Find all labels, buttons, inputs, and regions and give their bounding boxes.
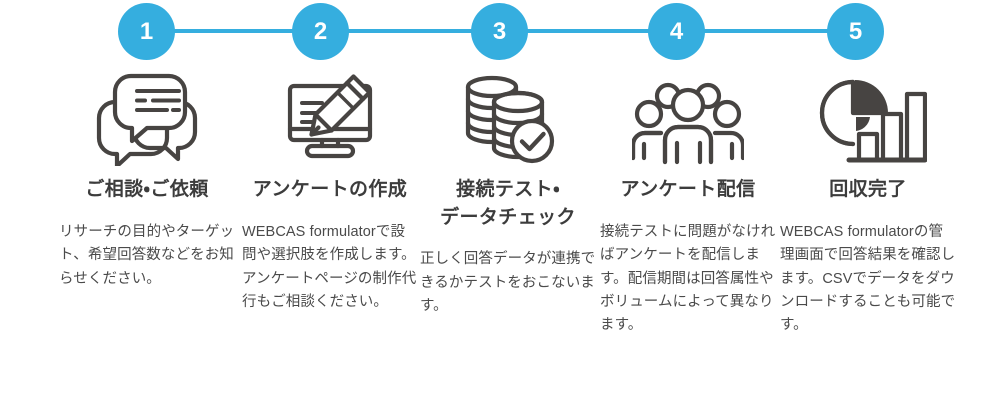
- stepper-columns: ご相談・ご依頼 リサーチの目的やターゲット、希望回答数などをお知らせください。: [0, 64, 1000, 400]
- step-heading-5: 回収完了: [778, 176, 958, 204]
- step-number-1: 1: [140, 18, 153, 45]
- step-body-5: WEBCAS formulatorの管理画面で回答結果を確認します。CSVでデー…: [778, 221, 958, 338]
- step-circle-1[interactable]: 1: [118, 3, 175, 60]
- step-icon-3-box: [418, 64, 598, 174]
- step-circle-4[interactable]: 4: [648, 3, 705, 60]
- step-heading-4: アンケート配信: [598, 176, 778, 204]
- step-number-4: 4: [670, 18, 683, 45]
- step-number-2: 2: [314, 18, 327, 45]
- step-number-3: 3: [493, 18, 506, 45]
- step-heading-2: アンケートの作成: [240, 176, 420, 204]
- step-circle-2[interactable]: 2: [292, 3, 349, 60]
- step-circle-3[interactable]: 3: [471, 3, 528, 60]
- step-circle-5[interactable]: 5: [827, 3, 884, 60]
- step-heading-1: ご相談・ご依頼: [57, 176, 237, 204]
- step-column-4: アンケート配信 接続テストに問題がなければアンケートを配信します。配信期間は回答…: [598, 64, 778, 338]
- database-check-icon: [456, 72, 560, 166]
- monitor-pencil-icon: [278, 72, 382, 166]
- step-icon-2-box: [240, 64, 420, 174]
- step-column-5: 回収完了 WEBCAS formulatorの管理画面で回答結果を確認します。C…: [778, 64, 958, 338]
- step-icon-4-box: [598, 64, 778, 174]
- step-body-1: リサーチの目的やターゲット、希望回答数などをお知らせください。: [57, 221, 237, 291]
- speech-bubbles-icon: [95, 72, 199, 166]
- step-column-3: 接続テスト・ データチェック 正しく回答データが連携できるかテストをおこないます…: [418, 64, 598, 319]
- step-column-1: ご相談・ご依頼 リサーチの目的やターゲット、希望回答数などをお知らせください。: [57, 64, 237, 291]
- pie-bar-chart-icon: [809, 72, 927, 166]
- process-stepper: 1 2 3 4 5: [0, 0, 1000, 400]
- people-group-icon: [632, 72, 744, 166]
- step-column-2: アンケートの作成 WEBCAS formulatorで設問や選択肢を作成します。…: [240, 64, 420, 314]
- step-body-3: 正しく回答データが連携できるかテストをおこないます。: [418, 248, 598, 318]
- step-body-2: WEBCAS formulatorで設問や選択肢を作成します。アンケートページの…: [240, 221, 420, 315]
- step-heading-3: 接続テスト・ データチェック: [418, 176, 598, 231]
- step-icon-1-box: [57, 64, 237, 174]
- step-number-5: 5: [849, 18, 862, 45]
- step-body-4: 接続テストに問題がなければアンケートを配信します。配信期間は回答属性やボリューム…: [598, 221, 778, 338]
- step-icon-5-box: [778, 64, 958, 174]
- stepper-timeline: 1 2 3 4 5: [0, 0, 1000, 64]
